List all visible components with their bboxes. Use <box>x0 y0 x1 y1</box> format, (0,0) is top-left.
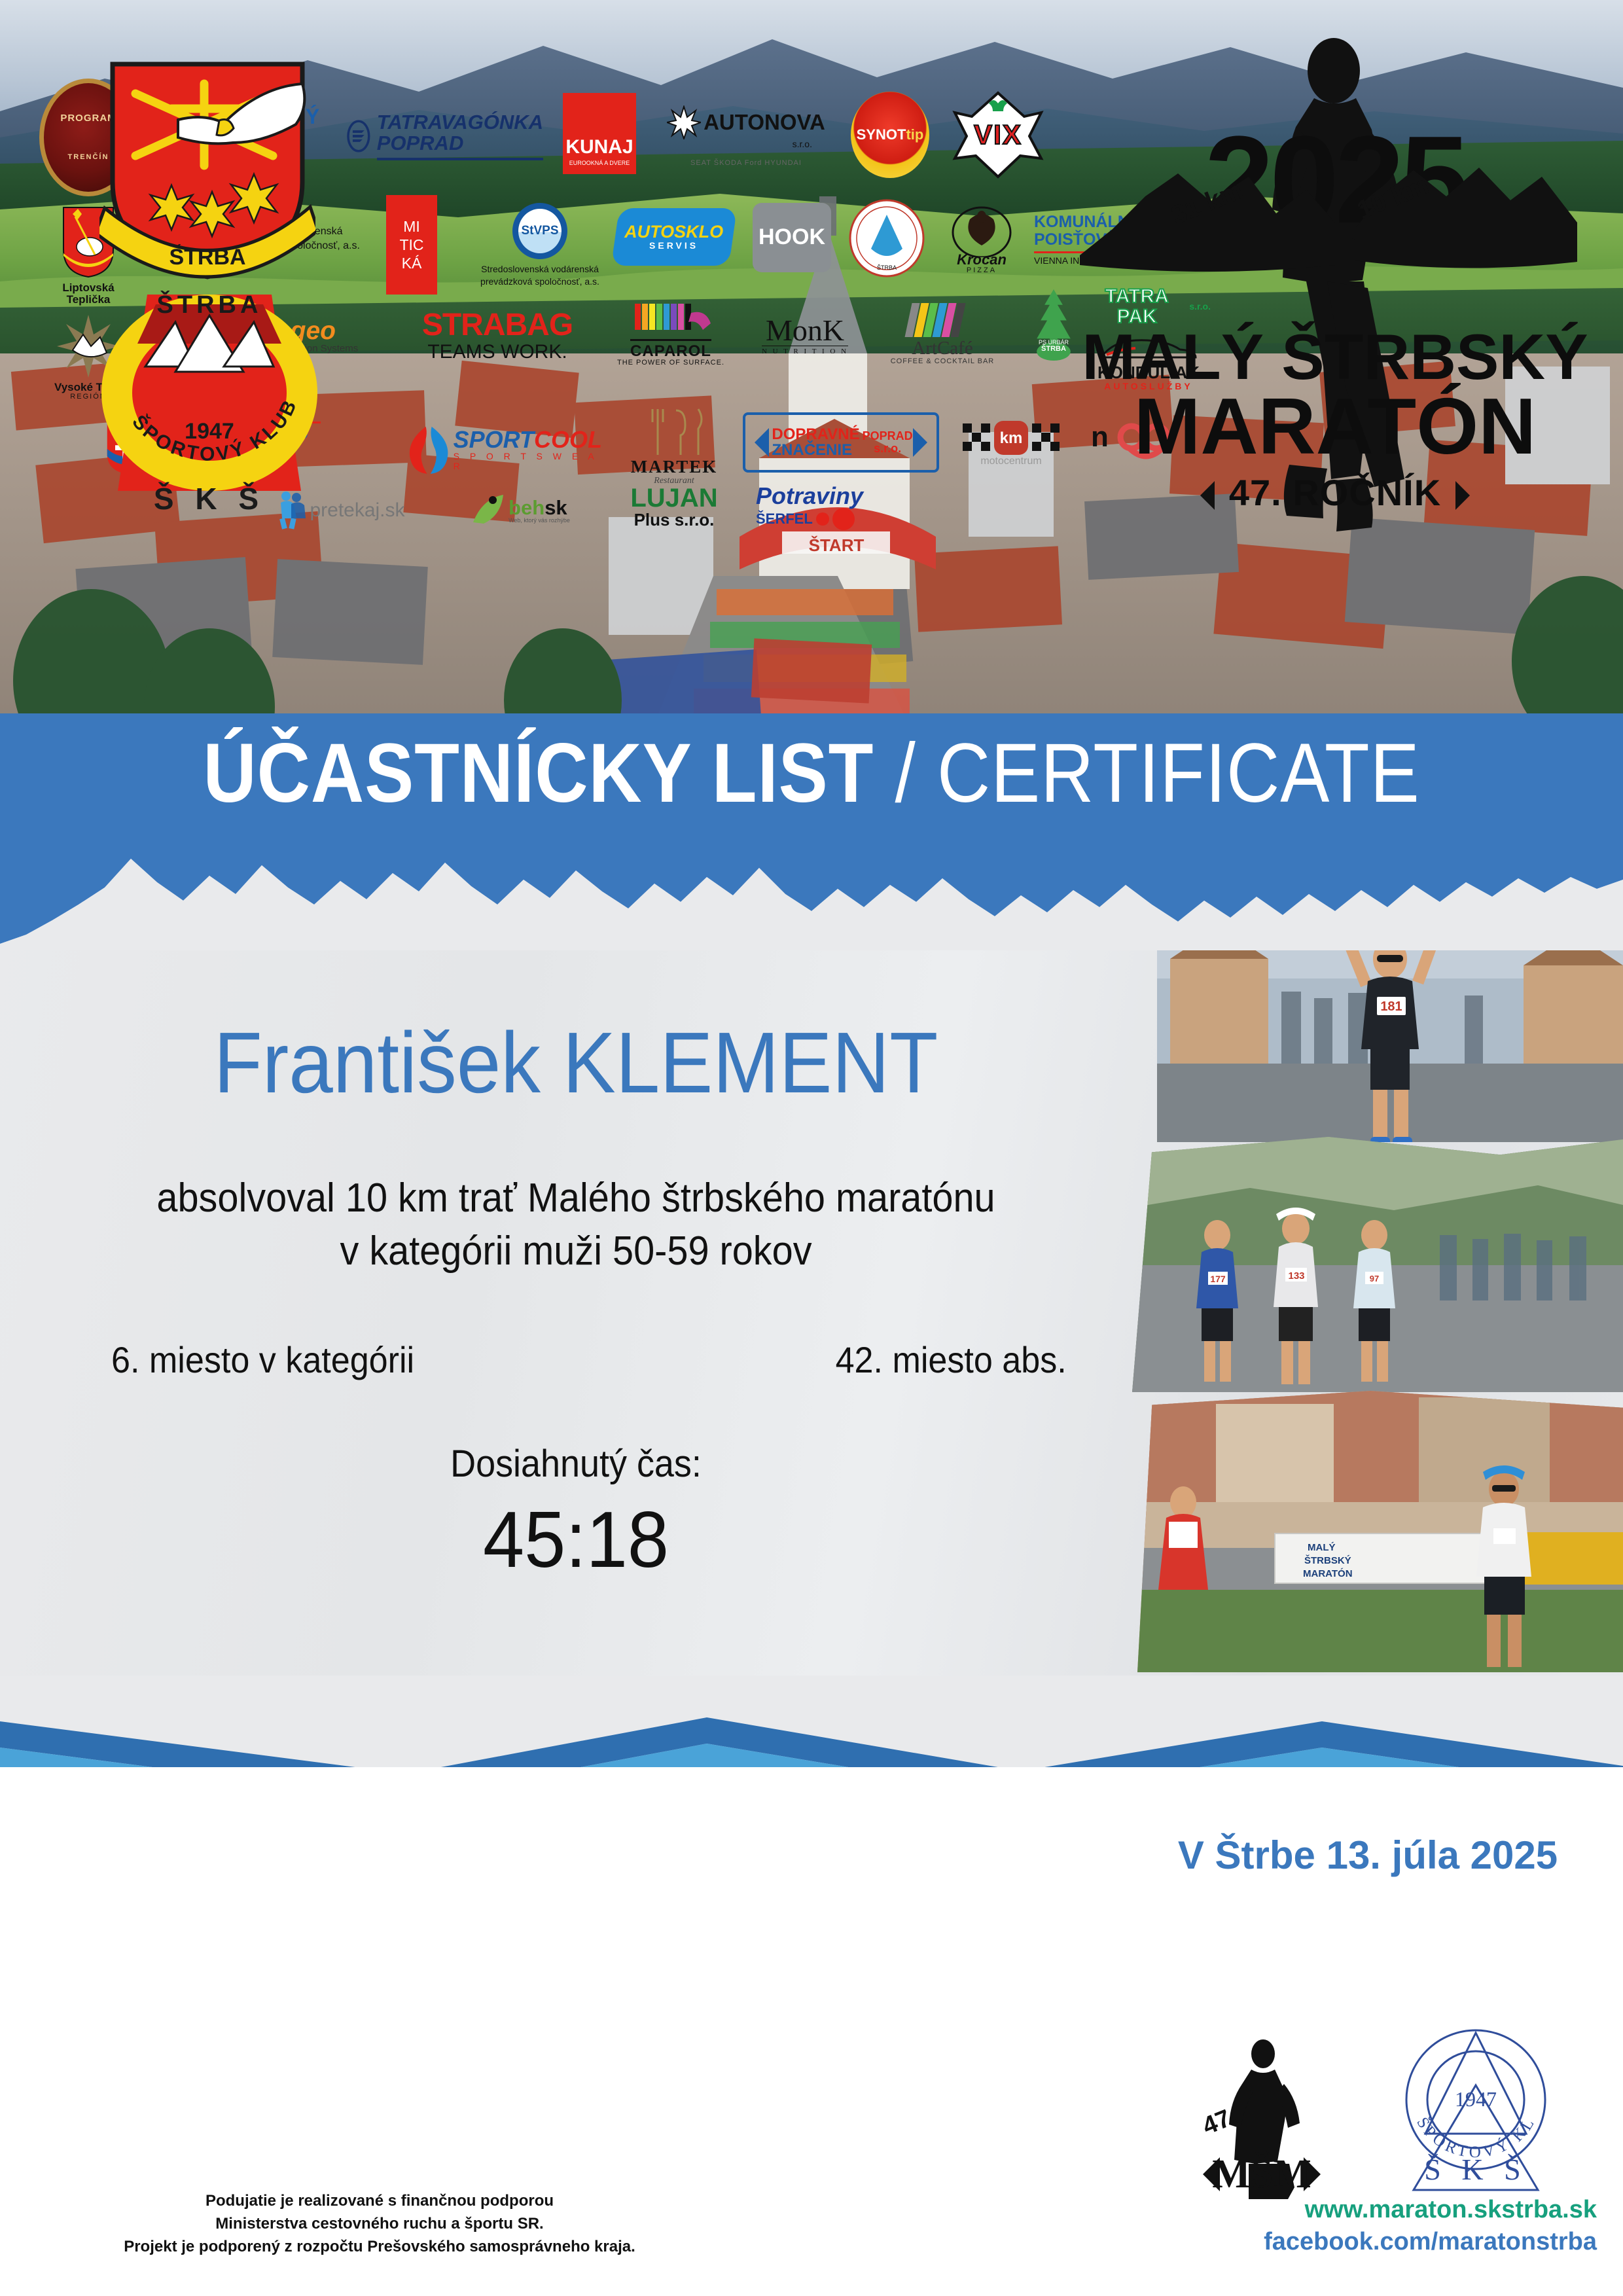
sponsor-text: KUNAJ <box>565 137 633 158</box>
photo-runners-group: 177 133 <box>1132 1137 1623 1392</box>
bib-number-133: 133 <box>1288 1270 1304 1282</box>
sponsor-logo-hook[interactable]: HOOK <box>753 203 831 272</box>
sponsor-text: tip <box>906 126 923 143</box>
sponsor-text: ŠERFEL <box>756 511 813 526</box>
sponsor-text: SYNOT <box>857 126 906 143</box>
bib-number-181: 181 <box>1380 999 1402 1014</box>
photo-finish-line-svg: MALÝ ŠTRBSKÝ MARATÓN <box>1137 1391 1623 1672</box>
finish-banner-line3: MARATÓN <box>1303 1568 1353 1579</box>
triangle-left-icon <box>1186 481 1215 510</box>
sponsor-logo-monk-nutrition[interactable]: MonK N U T R I T I O N <box>743 300 867 372</box>
sponsor-text: ZNAČENIE <box>772 442 859 458</box>
sponsor-logo-synot-tip[interactable]: SYNOTtip <box>851 92 929 178</box>
msm-abbr: MŠM <box>1212 2152 1311 2197</box>
time-value: 45:18 <box>41 1498 1112 1581</box>
facebook-link[interactable]: facebook.com/maratonstrba <box>1139 2226 1597 2258</box>
sponsor-logo-autonova[interactable]: AUTONOVA s.r.o. SEAT ŠKODA Ford HYUNDAI <box>658 90 834 182</box>
sponsor-text: Web, ktorý vás rozhýbe <box>508 518 570 524</box>
sponsor-text: Stredoslovenská vodárenská <box>480 263 599 276</box>
msm-mark-svg: 47. MŠM <box>1178 2036 1342 2199</box>
placements: 6. miesto v kategórii 42. miesto abs. <box>0 1338 1152 1391</box>
sks-stamp-year: 1947 <box>1455 2087 1497 2111</box>
mountain-silhouette-icon <box>1073 151 1597 308</box>
krocan-turkey-icon <box>950 204 1013 257</box>
certificate-page: ŠTART <box>0 0 1623 2296</box>
sponsor-logo-tatravagonka[interactable]: TATRAVAGÓNKA POPRAD <box>347 97 543 175</box>
description-line-1: absolvoval 10 km trať Malého štrbského m… <box>41 1172 1112 1225</box>
km-label-text: km <box>1000 429 1023 447</box>
sponsor-text: sk <box>544 496 567 519</box>
finish-banner-line1: MALÝ <box>1308 1541 1336 1553</box>
strba-ribbon-text: ŠTRBA <box>169 244 245 270</box>
event-logo: 2025 31 km 10 km MALÝ ŠTRBSKÝ MARATÓN 47… <box>1073 20 1597 589</box>
pd-strba-label: ŠTRBA <box>877 264 897 271</box>
msm-mark: 47. MŠM <box>1178 2036 1342 2199</box>
sponsor-logo-kunaj[interactable]: KUNAJ EUROOKNÁ A DVERE <box>563 93 636 174</box>
certificate-banner: ÚČASTNÍCKY LIST / CERTIFICATE <box>0 713 1623 857</box>
sponsor-text: EUROOKNÁ A DVERE <box>569 160 630 166</box>
serfel-dot-icon <box>816 512 829 526</box>
tatravagonka-icon <box>347 102 370 170</box>
sponsor-logo-strabag[interactable]: STRABAG TEAMS WORK. <box>406 300 589 372</box>
sks-stamp-svg: 1947 ŠPORTOVÝ KLUB Š K Š <box>1387 2022 1564 2199</box>
certificate-content: František KLEMENT absolvoval 10 km trať … <box>0 851 1152 1581</box>
sponsor-text: THE POWER OF SURFACE. <box>617 359 724 367</box>
sponsor-text: KÁ <box>402 255 422 271</box>
banner-title-en: CERTIFICATE <box>937 726 1420 820</box>
certificate-date: V Štrbe 13. júla 2025 <box>1145 1833 1590 1878</box>
sponsor-text: pretekaj.sk <box>310 500 404 521</box>
beh-sk-icon <box>471 492 506 529</box>
sponsor-text: AUTONOVA <box>704 111 825 134</box>
time-label: Dosiahnutý čas: <box>41 1442 1112 1486</box>
caparol-elephant-icon <box>628 301 713 339</box>
sponsor-text: STRABAG <box>422 309 573 342</box>
event-title-line2: MARATÓN <box>1073 386 1597 466</box>
sponsor-text: s.r.o. <box>793 139 812 149</box>
triangle-right-icon <box>1455 481 1484 510</box>
sponsor-logo-autosklo-servis[interactable]: AUTOSKLO SERVIS <box>611 208 737 266</box>
category-place: 6. miesto v kategórii <box>111 1338 414 1381</box>
serfel-dot-large-icon <box>832 508 855 530</box>
event-edition-text: 47. ROČNÍK <box>1229 472 1441 513</box>
sponsor-logo-dopravne-znacenie[interactable]: DOPRAVNÉ ZNAČENIE POPRAD s.r.o. <box>743 412 939 473</box>
stvps-oval-icon: StVPS <box>512 203 567 259</box>
sponsor-logo-lujan-plus[interactable]: LUJAN Plus s.r.o. <box>615 475 733 540</box>
autonova-star-icon <box>667 105 701 139</box>
sponsor-logo-stvps[interactable]: StVPS Stredoslovenská vodárenská prevádz… <box>458 203 622 288</box>
sponsor-text: HOOK <box>758 226 825 249</box>
sportcool-swoosh-icon <box>406 420 450 479</box>
sponsor-logo-miticka[interactable]: MI TIC KÁ <box>386 195 437 295</box>
strba-coat-of-arms: ŠTRBA <box>99 58 315 287</box>
motocentrum-label-text: motocentrum <box>980 456 1041 467</box>
sponsor-text: N U T R I T I O N <box>762 346 848 356</box>
sponsor-text: DOPRAVNÉ <box>772 427 859 442</box>
absolute-place: 42. miesto abs. <box>836 1338 1067 1381</box>
sponsor-text: TATRAVAGÓNKA <box>377 112 543 132</box>
sponsor-logo-pd-strba[interactable]: ŠTRBA <box>847 199 926 278</box>
sponsor-text: Krocan <box>957 252 1007 267</box>
sponsor-logo-artcafe[interactable]: ArtCafé COFFEE & COCKTAIL BAR <box>883 293 1001 374</box>
sks-emblem-abbr: Š K Š <box>154 482 265 516</box>
banner-title-sk: ÚČASTNÍCKY LIST <box>203 726 874 820</box>
sponsor-text: ArtCafé <box>912 338 972 358</box>
sponsor-logo-potraviny-serfel[interactable]: Potraviny ŠERFEL <box>756 475 900 540</box>
sponsor-logo-krocan-pizza[interactable]: Krocan PIZZA <box>939 198 1024 280</box>
sponsor-logo-vix[interactable]: VIX <box>952 90 1044 179</box>
sponsor-text: MARTEK <box>631 457 718 476</box>
sponsor-text: COFFEE & COCKTAIL BAR <box>891 358 995 366</box>
sponsor-text: AUTOSKLO <box>624 222 723 242</box>
checkered-flag-icon: km motocentrum <box>960 418 1062 468</box>
sponsor-text: S P O R T S W E A R <box>454 452 602 471</box>
bib-number-177: 177 <box>1210 1274 1226 1284</box>
sponsor-text: Plus s.r.o. <box>634 511 715 529</box>
sponsor-text: ŠTRBA <box>1041 346 1066 353</box>
certificate-description: absolvoval 10 km trať Malého štrbského m… <box>41 1172 1112 1279</box>
funding-note-line-1: Podujatie je realizované s finančnou pod… <box>46 2190 713 2213</box>
sponsor-logo-km-motocentrum[interactable]: km motocentrum <box>952 401 1070 486</box>
sks-club-emblem: ŠTRBA 1947 ŠPORTOVÝ KLUB Š K Š <box>98 275 321 517</box>
photo-runners-group-svg: 177 133 <box>1132 1137 1623 1392</box>
contact-links: www.maraton.skstrba.sk facebook.com/mara… <box>1139 2194 1597 2257</box>
sks-stamp-abbr: Š K Š <box>1424 2153 1527 2186</box>
cutlery-icon <box>638 406 710 457</box>
event-edition: 47. ROČNÍK <box>1073 471 1597 514</box>
description-line-2: v kategórii muži 50-59 rokov <box>41 1225 1112 1278</box>
sponsor-text: TIC <box>399 237 423 253</box>
sponsor-text: prevádzková spoločnosť, a.s. <box>480 276 599 288</box>
event-title-line1: MALÝ ŠTRBSKÝ <box>1073 325 1597 389</box>
banner-title: ÚČASTNÍCKY LIST / CERTIFICATE <box>98 732 1525 816</box>
sponsor-text: POPRAD <box>377 132 543 154</box>
sponsor-text: SERVIS <box>624 242 723 251</box>
sponsor-text: MI <box>403 219 420 234</box>
sponsor-logo-beh-sk[interactable]: behsk Web, ktorý vás rozhýbe <box>445 484 596 537</box>
funding-note-line-2: Ministerstva cestovného ruchu a športu S… <box>46 2213 713 2236</box>
photo-finish-line: MALÝ ŠTRBSKÝ MARATÓN <box>1137 1391 1623 1672</box>
artcafe-stripes-icon <box>903 302 982 338</box>
sponsor-text: PIZZA <box>967 267 997 275</box>
website-link[interactable]: www.maraton.skstrba.sk <box>1139 2194 1597 2226</box>
sponsor-text: beh <box>508 496 544 519</box>
bib-number-97: 97 <box>1370 1274 1379 1283</box>
sks-stamp-mark: 1947 ŠPORTOVÝ KLUB Š K Š <box>1387 2022 1564 2199</box>
funding-note: Podujatie je realizované s finančnou pod… <box>46 2190 713 2258</box>
participant-name: František KLEMENT <box>46 1018 1105 1109</box>
sponsor-text: Potraviny <box>756 484 863 508</box>
funding-note-line-3: Projekt je podporený z rozpočtu Prešovsk… <box>46 2236 713 2259</box>
sks-emblem-top: ŠTRBA <box>157 289 262 319</box>
pd-strba-icon: ŠTRBA <box>847 199 926 278</box>
banner-separator: / <box>874 726 937 820</box>
sponsor-text: StVPS <box>521 224 558 238</box>
photo-collage: 181 177 <box>1126 880 1623 1725</box>
sponsor-text: TEAMS WORK. <box>427 342 567 363</box>
sks-emblem-year: 1947 <box>185 419 234 444</box>
sponsor-text: LUJAN <box>630 485 717 511</box>
sponsor-text: POPRAD s.r.o. <box>863 430 913 455</box>
sponsor-logo-sportcool[interactable]: SPORTCOOL S P O R T S W E A R <box>406 414 602 486</box>
sponsor-logo-caparol[interactable]: CAPAROL THE POWER OF SURFACE. <box>609 295 733 373</box>
finish-banner-line2: ŠTRBSKÝ <box>1304 1554 1351 1566</box>
strba-coat-of-arms-svg: ŠTRBA <box>99 58 315 287</box>
sponsor-text: SEAT ŠKODA Ford HYUNDAI <box>690 160 802 168</box>
sks-club-emblem-svg: ŠTRBA 1947 ŠPORTOVÝ KLUB Š K Š <box>98 275 321 517</box>
sponsor-text: MonK <box>766 315 844 346</box>
sponsor-text: CAPAROL <box>630 339 711 359</box>
sponsor-text: VIX <box>974 120 1022 149</box>
